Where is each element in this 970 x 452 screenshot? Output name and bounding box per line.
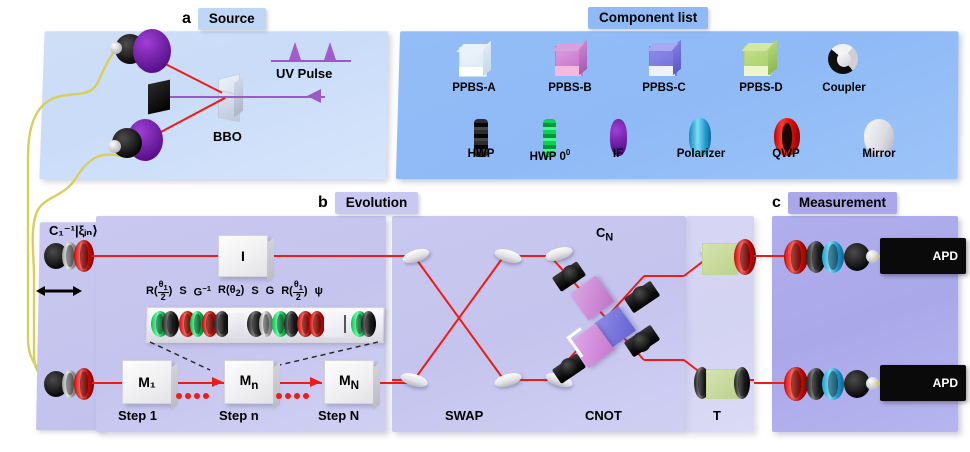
- formula-r-theta2: R(θ2): [218, 284, 244, 298]
- ppbs-d-label: PPBS-D: [727, 82, 795, 94]
- hwp-0-label: HWP 00: [518, 148, 582, 163]
- panel-letter-c: c: [772, 195, 781, 211]
- cnot-hwp-4: [632, 332, 651, 352]
- meas-polarizer-bottom: [822, 368, 844, 400]
- formula-psi: ψ: [315, 285, 323, 297]
- meas-polarizer-top: [822, 241, 844, 273]
- dot: [294, 393, 300, 399]
- translation-arrow: [36, 284, 82, 298]
- strip-hwp-2: [162, 311, 179, 337]
- step-caption-n: Step n: [219, 408, 259, 423]
- panel-c-title: c Measurement: [772, 192, 897, 214]
- beam-bottom-rail-1: [92, 382, 122, 384]
- polarizer-label: Polarizer: [666, 148, 736, 160]
- beam-dump: [148, 80, 170, 115]
- cnot-hwp-3: [632, 286, 651, 306]
- source-coupler-bottom-tip: [108, 140, 121, 153]
- dot: [203, 393, 209, 399]
- decomposition-formula: R(θ12) S G−1 R(θ2) S G R(θ12) ψ: [146, 279, 386, 303]
- dot: [185, 393, 191, 399]
- uv-pulse-peak-1: [289, 42, 301, 60]
- formula-r-theta1-half-b: R(θ12): [281, 280, 307, 302]
- ppbs-a-icon: [457, 43, 491, 77]
- step-box-1: M₁: [122, 360, 172, 404]
- dot: [194, 393, 200, 399]
- step-box-n: Mn: [224, 360, 274, 404]
- uv-pulse-plot: [271, 36, 355, 64]
- strip-ppbs-1: [228, 313, 244, 337]
- cnot-caption: CNOT: [585, 408, 622, 423]
- ppbs-c-label: PPBS-C: [632, 82, 696, 94]
- panel-b-title: b Evolution: [318, 192, 418, 214]
- apd-detector-top: APD: [880, 238, 966, 274]
- panel-title-source: Source: [198, 8, 266, 30]
- input-state-label: C₁⁻¹|ξᵢₙ⟩: [49, 223, 98, 239]
- dot: [276, 393, 282, 399]
- dot: [285, 393, 291, 399]
- ppbs-b-icon: [553, 42, 587, 78]
- ppbs-b-label: PPBS-B: [538, 82, 602, 94]
- strip-ppbs-2: [324, 312, 344, 337]
- formula-g-inv: G−1: [194, 284, 211, 299]
- strip-hwp-10: [361, 311, 376, 337]
- figure-root: a Source BBO UV Pulse Component list: [0, 0, 970, 452]
- beam-step-arrow-2: [310, 377, 321, 387]
- meas-qwp-top: [784, 240, 808, 274]
- panel-letter-a: a: [182, 11, 191, 27]
- input-qwp-bottom: [74, 368, 94, 400]
- step-box-N: MN: [324, 360, 374, 404]
- coupler-icon: [826, 44, 860, 76]
- formula-s-b: S: [251, 285, 258, 297]
- source-filter-top: [133, 29, 171, 73]
- step-ellipsis-1: [176, 393, 209, 399]
- component-list-badge: Component list: [588, 7, 708, 29]
- step-caption-N: Step N: [318, 408, 359, 423]
- qwp-label: QWP: [757, 148, 815, 160]
- ppbs-a-label: PPBS-A: [442, 82, 506, 94]
- cnot-hwp-2: [560, 358, 578, 377]
- t-caption: T: [713, 408, 721, 423]
- hwp-0-text: HWP 0: [530, 151, 566, 163]
- beam-step-arrow-1: [212, 377, 223, 387]
- t-ppbs-top: [702, 243, 738, 275]
- panel-a-title: a Source: [182, 8, 266, 30]
- identity-box: I: [218, 235, 268, 277]
- uv-pulse-baseline: [271, 60, 351, 62]
- step-box-N-text: MN: [339, 372, 359, 392]
- t-mount-bottom-right: [734, 367, 750, 399]
- bbo-label: BBO: [213, 129, 242, 144]
- step-caption-1: Step 1: [118, 408, 157, 423]
- uv-beam: [150, 96, 325, 98]
- component-list-title: Component list: [588, 7, 708, 29]
- step-box-n-text: Mn: [240, 372, 259, 392]
- source-coupler-top-tip: [110, 42, 122, 54]
- swap-caption: SWAP: [445, 408, 483, 423]
- hwp-label: HWP: [452, 148, 510, 160]
- ppbs-c-icon: [647, 42, 681, 78]
- step-ellipsis-2: [276, 393, 309, 399]
- dot: [176, 393, 182, 399]
- apd-detector-bottom: APD: [880, 365, 966, 401]
- dot: [303, 393, 309, 399]
- coupler-label: Coupler: [812, 82, 876, 94]
- if-label: IF: [596, 148, 640, 160]
- strip-qwp-4: [309, 311, 325, 337]
- uv-pulse-peak-2: [324, 42, 336, 60]
- cnot-hwp-1: [562, 265, 580, 284]
- panel-title-evolution: Evolution: [335, 192, 419, 214]
- formula-g: G: [266, 285, 275, 297]
- t-qwp-top: [734, 239, 756, 275]
- ppbs-d-icon: [742, 42, 778, 78]
- uv-beam-arrow: [307, 89, 321, 103]
- decomposition-strip-optics: [148, 309, 380, 339]
- strip-identity-mark: [344, 315, 346, 333]
- formula-r-theta1-half-a: R(θ12): [146, 280, 172, 302]
- meas-qwp-bottom: [784, 367, 808, 401]
- uv-pulse-label: UV Pulse: [276, 66, 332, 81]
- input-qwp-top: [74, 240, 94, 272]
- panel-letter-b: b: [318, 195, 328, 211]
- mirror-label: Mirror: [848, 148, 910, 160]
- formula-s-a: S: [179, 285, 186, 297]
- strip-hwp-6: [259, 311, 273, 337]
- hwp-0-sup: 0: [566, 148, 570, 157]
- beam-top-rail: [92, 255, 218, 257]
- panel-title-measurement: Measurement: [788, 192, 897, 214]
